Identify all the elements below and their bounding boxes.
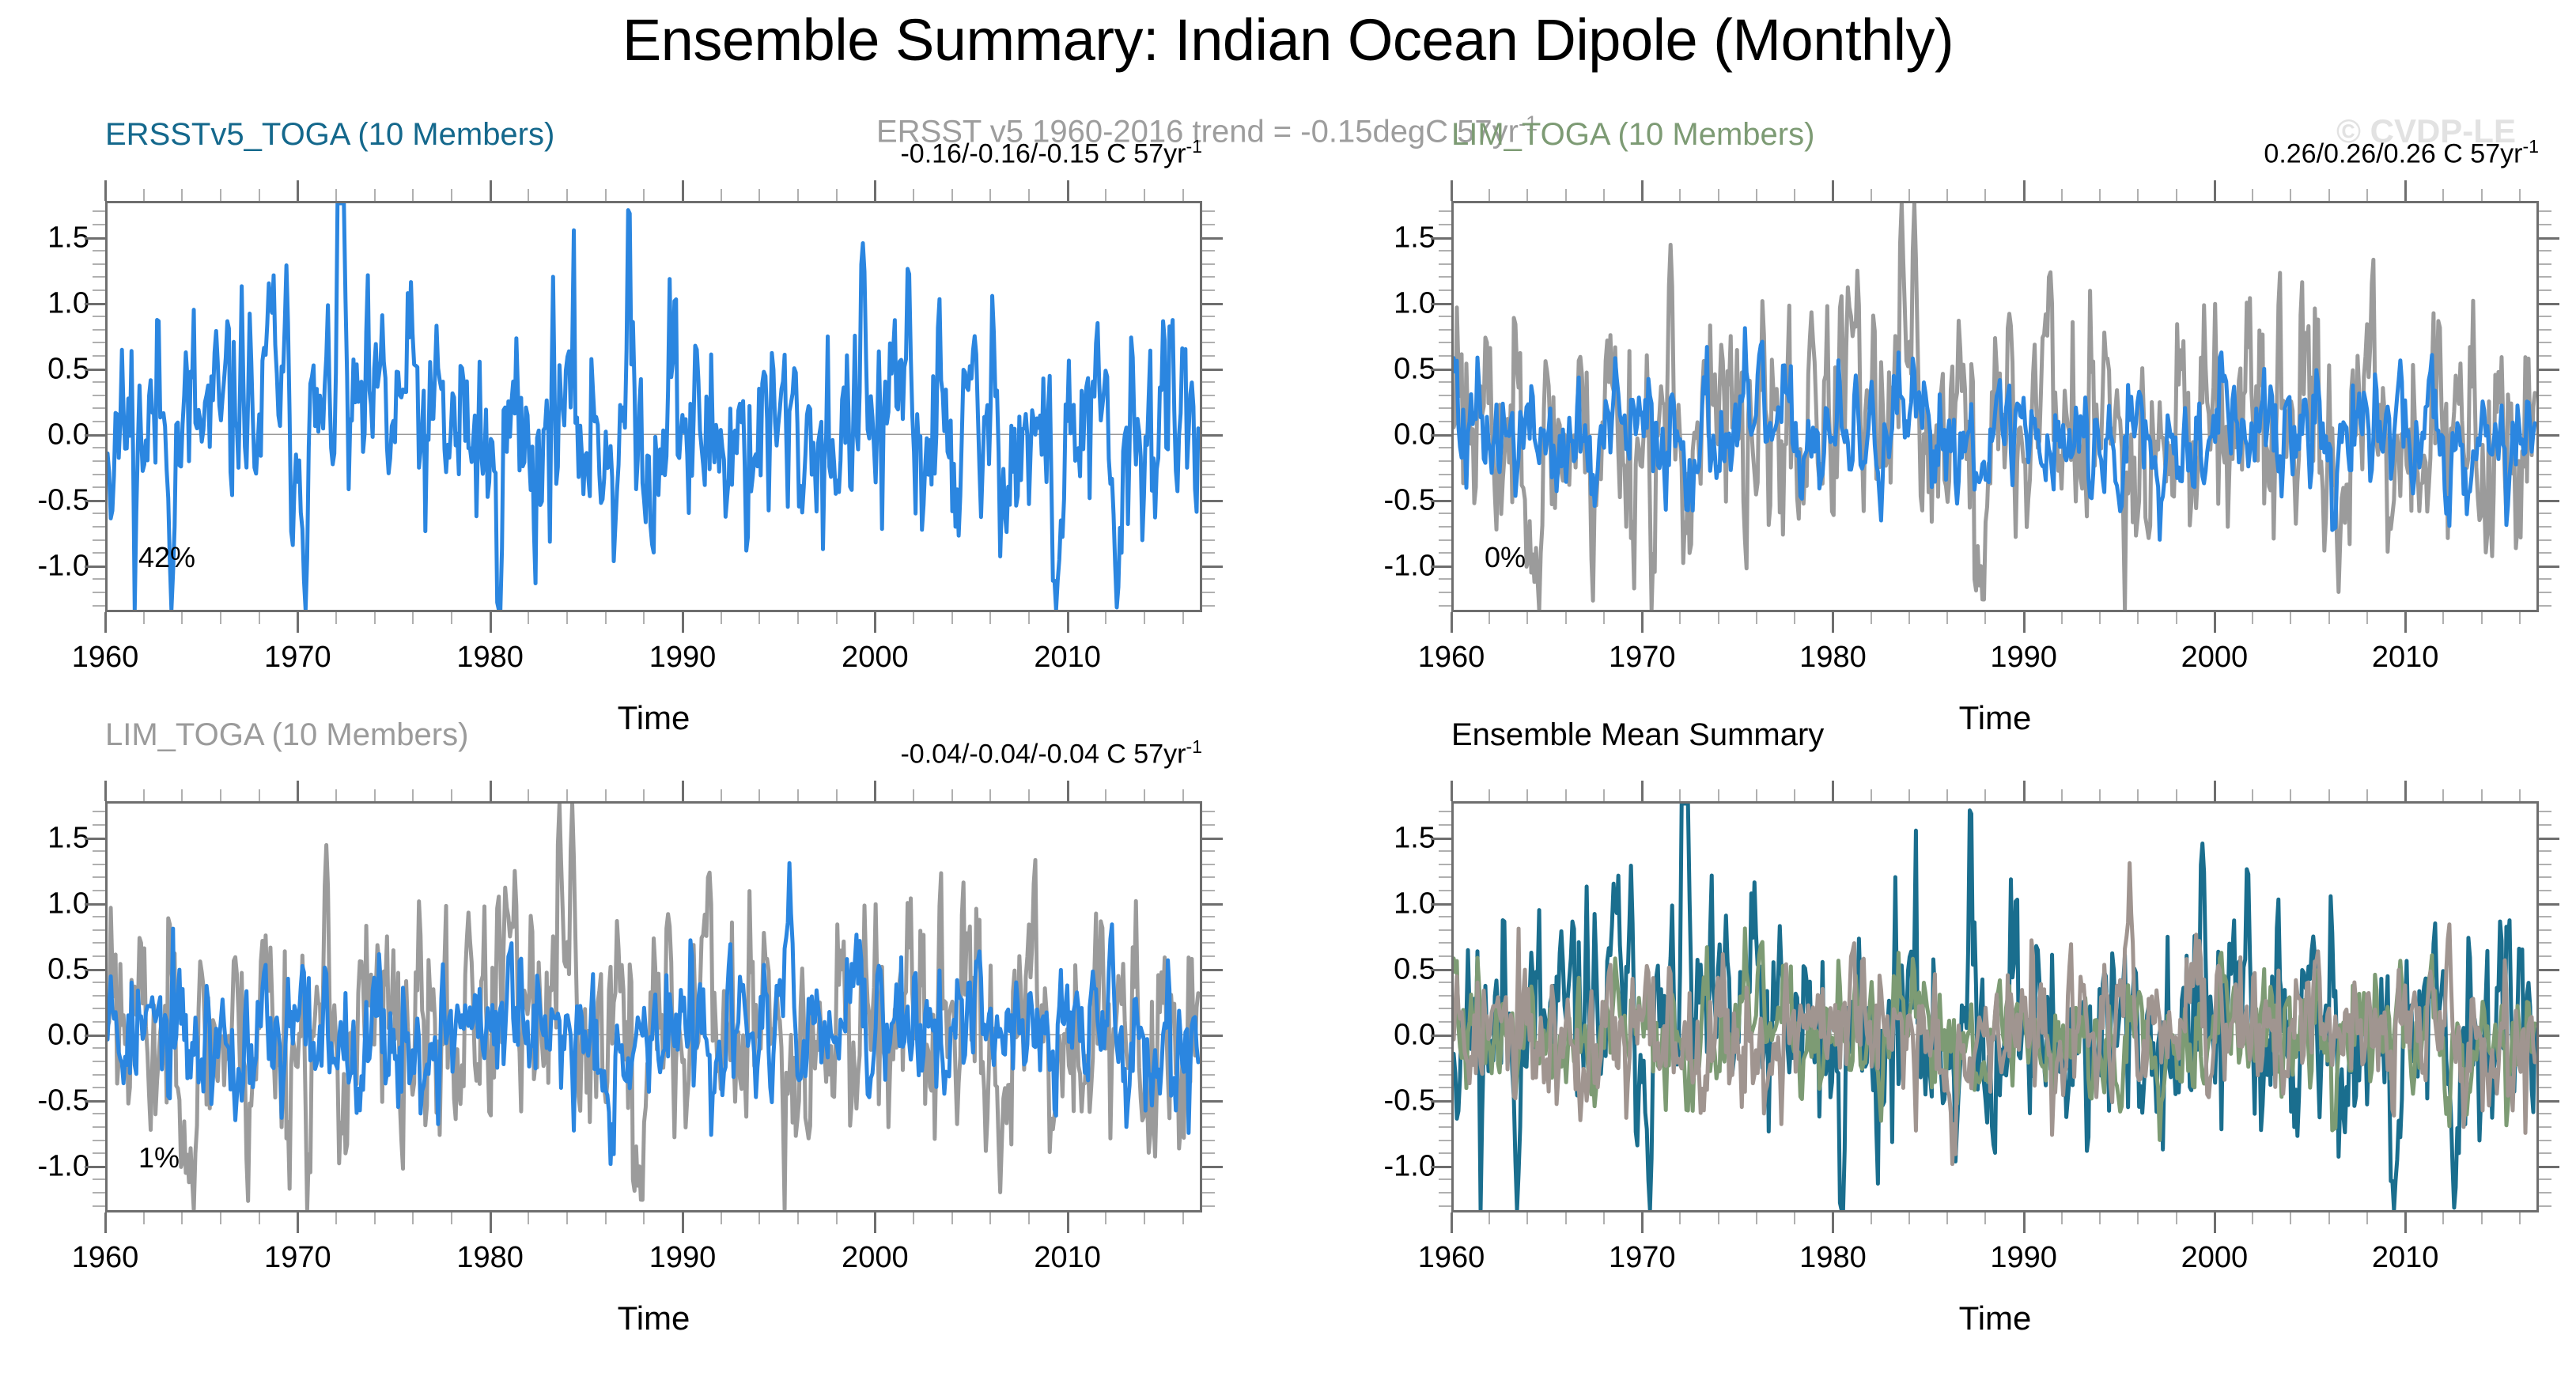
- x-minor-tick: [220, 189, 221, 201]
- y-minor-tick: [1202, 329, 1215, 331]
- y-minor-tick: [1439, 1061, 1451, 1062]
- y-minor-tick: [93, 1008, 105, 1009]
- x-minor-tick: [451, 789, 452, 801]
- x-minor-tick: [643, 612, 645, 624]
- y-minor-tick: [1202, 578, 1215, 580]
- plot-area-ersstv5-toga[interactable]: [105, 201, 1202, 612]
- x-minor-tick: [797, 1212, 799, 1224]
- x-minor-tick: [758, 1212, 760, 1224]
- x-minor-tick: [2481, 189, 2483, 201]
- x-minor-tick: [2252, 1212, 2253, 1224]
- x-minor-tick: [2176, 1212, 2177, 1224]
- y-minor-tick: [1439, 447, 1451, 448]
- x-minor-tick: [2442, 612, 2444, 624]
- y-minor-tick: [1439, 916, 1451, 917]
- x-minor-tick: [2442, 789, 2444, 801]
- x-major-tick: [2404, 612, 2407, 633]
- x-minor-tick: [913, 789, 914, 801]
- y-tick-label: -1.0: [1333, 1149, 1436, 1183]
- x-minor-tick: [528, 1212, 529, 1224]
- y-minor-tick: [1439, 929, 1451, 931]
- y-minor-tick: [1439, 263, 1451, 265]
- y-minor-tick: [93, 342, 105, 343]
- y-minor-tick: [1439, 407, 1451, 409]
- x-major-tick: [682, 781, 684, 801]
- x-minor-tick: [1144, 789, 1145, 801]
- x-major-tick: [874, 1212, 876, 1233]
- y-minor-tick: [93, 474, 105, 475]
- x-minor-tick: [758, 612, 760, 624]
- y-minor-tick: [93, 916, 105, 917]
- x-tick-label: 2000: [842, 641, 909, 675]
- y-major-tick: [85, 237, 105, 240]
- y-major-tick-right: [2539, 1035, 2559, 1037]
- x-minor-tick: [1182, 612, 1184, 624]
- x-minor-tick: [1871, 612, 1872, 624]
- y-tick-label: 1.0: [0, 887, 89, 921]
- y-minor-tick: [2539, 250, 2551, 252]
- y-major-tick: [1431, 434, 1451, 437]
- y-minor-tick: [2539, 982, 2551, 983]
- x-minor-tick: [643, 189, 645, 201]
- y-minor-tick: [2539, 876, 2551, 878]
- y-tick-label: 0.5: [0, 952, 89, 986]
- x-minor-tick: [528, 612, 529, 624]
- x-tick-label: 1960: [1418, 1241, 1485, 1275]
- x-minor-tick: [758, 789, 760, 801]
- y-minor-tick: [93, 864, 105, 865]
- y-minor-tick: [1439, 1152, 1451, 1154]
- y-minor-tick: [1439, 395, 1451, 396]
- x-minor-tick: [913, 612, 914, 624]
- x-major-tick: [1641, 612, 1644, 633]
- x-minor-tick: [259, 789, 260, 801]
- x-minor-tick: [1028, 789, 1030, 801]
- x-minor-tick: [2366, 612, 2368, 624]
- x-minor-tick: [1946, 189, 1948, 201]
- x-minor-tick: [2481, 789, 2483, 801]
- y-tick-label: 0.0: [0, 1018, 89, 1052]
- x-tick-label: 1960: [1418, 641, 1485, 675]
- y-minor-tick: [2539, 224, 2551, 225]
- y-minor-tick: [2539, 1126, 2551, 1128]
- plot-area-ensemble-mean-summary[interactable]: [1451, 801, 2539, 1212]
- y-minor-tick: [1439, 474, 1451, 475]
- y-minor-tick: [93, 995, 105, 997]
- x-tick-label: 2010: [1034, 641, 1101, 675]
- y-minor-tick: [2539, 460, 2551, 462]
- x-major-tick: [1832, 1212, 1834, 1233]
- y-minor-tick: [1202, 982, 1215, 983]
- y-major-tick: [1431, 303, 1451, 305]
- y-major-tick-right: [1202, 1100, 1223, 1103]
- y-minor-tick: [93, 1047, 105, 1049]
- y-minor-tick: [93, 1113, 105, 1114]
- x-minor-tick: [220, 789, 221, 801]
- x-minor-tick: [2099, 1212, 2101, 1224]
- y-minor-tick: [1439, 250, 1451, 252]
- x-tick-label: 1970: [1609, 641, 1676, 675]
- y-minor-tick: [1439, 1008, 1451, 1009]
- y-minor-tick: [93, 316, 105, 317]
- y-major-tick-right: [2539, 1100, 2559, 1103]
- plot-area-lim-toga-gray[interactable]: [105, 801, 1202, 1212]
- y-minor-tick: [93, 421, 105, 422]
- x-minor-tick: [2061, 189, 2063, 201]
- x-minor-tick: [451, 189, 452, 201]
- x-major-tick: [297, 1212, 299, 1233]
- y-minor-tick: [93, 289, 105, 291]
- x-minor-tick: [2099, 189, 2101, 201]
- y-major-tick-right: [2539, 838, 2559, 840]
- x-minor-tick: [335, 612, 337, 624]
- y-minor-tick: [1202, 210, 1215, 212]
- y-major-tick: [85, 1166, 105, 1168]
- x-minor-tick: [2290, 612, 2291, 624]
- x-minor-tick: [836, 1212, 838, 1224]
- y-minor-tick: [1439, 1021, 1451, 1023]
- x-minor-tick: [1182, 1212, 1184, 1224]
- x-minor-tick: [1946, 1212, 1948, 1224]
- x-minor-tick: [913, 189, 914, 201]
- y-minor-tick: [1439, 1074, 1451, 1076]
- x-major-tick: [1067, 612, 1069, 633]
- x-minor-tick: [836, 612, 838, 624]
- x-minor-tick: [566, 1212, 568, 1224]
- x-minor-tick: [643, 789, 645, 801]
- y-minor-tick: [2539, 864, 2551, 865]
- y-minor-tick: [2539, 263, 2551, 265]
- y-minor-tick: [93, 460, 105, 462]
- x-minor-tick: [1794, 612, 1795, 624]
- y-minor-tick: [1202, 850, 1215, 852]
- y-minor-tick: [1202, 526, 1215, 528]
- y-minor-tick: [1439, 605, 1451, 607]
- x-minor-tick: [989, 1212, 991, 1224]
- y-minor-tick: [1202, 824, 1215, 826]
- x-major-tick: [1641, 180, 1644, 201]
- x-axis-title: Time: [1959, 1299, 2032, 1337]
- y-major-tick: [85, 903, 105, 906]
- x-minor-tick: [528, 789, 529, 801]
- x-minor-tick: [335, 789, 337, 801]
- x-minor-tick: [913, 1212, 914, 1224]
- y-minor-tick: [2539, 407, 2551, 409]
- x-major-tick: [1832, 781, 1834, 801]
- x-minor-tick: [605, 189, 607, 201]
- x-tick-label: 2010: [2372, 641, 2439, 675]
- x-major-tick: [1641, 781, 1644, 801]
- y-minor-tick: [2539, 578, 2551, 580]
- percent-label-lim-toga-gray: 1%: [138, 1141, 180, 1175]
- y-minor-tick: [1439, 316, 1451, 317]
- x-tick-label: 1970: [1609, 1241, 1676, 1275]
- x-minor-tick: [1105, 789, 1106, 801]
- x-minor-tick: [181, 612, 183, 624]
- y-minor-tick: [1202, 250, 1215, 252]
- x-minor-tick: [721, 189, 722, 201]
- x-major-tick: [2214, 781, 2216, 801]
- x-minor-tick: [2519, 1212, 2521, 1224]
- x-minor-tick: [2137, 612, 2139, 624]
- x-minor-tick: [1565, 1212, 1567, 1224]
- x-minor-tick: [951, 612, 953, 624]
- y-minor-tick: [1439, 982, 1451, 983]
- x-minor-tick: [1984, 789, 1986, 801]
- x-major-tick: [2023, 180, 2026, 201]
- x-minor-tick: [1718, 189, 1719, 201]
- x-minor-tick: [1984, 612, 1986, 624]
- y-major-tick-right: [2539, 1166, 2559, 1168]
- y-minor-tick: [93, 395, 105, 396]
- y-minor-tick: [93, 811, 105, 812]
- y-minor-tick: [2539, 850, 2551, 852]
- y-minor-tick: [1439, 329, 1451, 331]
- x-minor-tick: [220, 612, 221, 624]
- y-minor-tick: [2539, 1008, 2551, 1009]
- y-minor-tick: [1202, 605, 1215, 607]
- y-major-tick: [85, 434, 105, 437]
- x-minor-tick: [220, 1212, 221, 1224]
- y-minor-tick: [1202, 342, 1215, 343]
- y-minor-tick: [1202, 224, 1215, 225]
- x-minor-tick: [2519, 189, 2521, 201]
- panel-trend-exponent: -1: [2522, 136, 2539, 157]
- panel-trend-lim-toga-green: 0.26/0.26/0.26 C 57yr-1: [2264, 136, 2539, 169]
- y-minor-tick: [1439, 995, 1451, 997]
- x-minor-tick: [2328, 789, 2330, 801]
- x-minor-tick: [2061, 612, 2063, 624]
- y-minor-tick: [1202, 1205, 1215, 1207]
- x-minor-tick: [1144, 189, 1145, 201]
- x-major-tick: [104, 781, 107, 801]
- y-minor-tick: [1439, 876, 1451, 878]
- x-minor-tick: [836, 189, 838, 201]
- y-minor-tick: [93, 578, 105, 580]
- x-minor-tick: [181, 189, 183, 201]
- y-minor-tick: [2539, 513, 2551, 514]
- y-tick-label: -1.0: [0, 549, 89, 583]
- y-minor-tick: [1439, 578, 1451, 580]
- y-minor-tick: [1439, 539, 1451, 541]
- x-minor-tick: [1794, 189, 1795, 201]
- y-minor-tick: [1439, 1192, 1451, 1194]
- y-minor-tick: [93, 486, 105, 488]
- x-minor-tick: [1565, 189, 1567, 201]
- y-minor-tick: [1202, 355, 1215, 357]
- x-tick-label: 2000: [2181, 1241, 2249, 1275]
- y-major-tick-right: [2539, 303, 2559, 305]
- x-major-tick: [682, 180, 684, 201]
- x-major-tick: [874, 612, 876, 633]
- y-major-tick: [1431, 1100, 1451, 1103]
- y-minor-tick: [1202, 1087, 1215, 1088]
- y-minor-tick: [93, 876, 105, 878]
- y-major-tick-right: [1202, 903, 1223, 906]
- x-minor-tick: [1756, 189, 1757, 201]
- x-tick-label: 1960: [72, 1241, 139, 1275]
- y-minor-tick: [2539, 289, 2551, 291]
- percent-label-lim-toga-green: 0%: [1485, 541, 1526, 574]
- y-major-tick: [1431, 566, 1451, 568]
- x-major-tick: [104, 1212, 107, 1233]
- x-minor-tick: [721, 1212, 722, 1224]
- x-minor-tick: [1718, 612, 1719, 624]
- y-minor-tick: [1439, 592, 1451, 593]
- x-major-tick: [682, 1212, 684, 1233]
- y-minor-tick: [2539, 539, 2551, 541]
- y-minor-tick: [2539, 605, 2551, 607]
- y-minor-tick: [1202, 1008, 1215, 1009]
- y-major-tick-right: [1202, 500, 1223, 502]
- x-minor-tick: [1488, 189, 1490, 201]
- y-major-tick-right: [2539, 369, 2559, 371]
- x-major-tick: [2023, 1212, 2026, 1233]
- y-tick-label: 1.5: [0, 821, 89, 855]
- y-minor-tick: [2539, 355, 2551, 357]
- x-minor-tick: [1871, 1212, 1872, 1224]
- y-minor-tick: [1439, 526, 1451, 528]
- x-minor-tick: [181, 789, 183, 801]
- y-minor-tick: [1439, 824, 1451, 826]
- panel-trend-exponent: -1: [1186, 736, 1202, 757]
- y-minor-tick: [2539, 210, 2551, 212]
- y-minor-tick: [93, 1205, 105, 1207]
- x-tick-label: 1970: [264, 641, 331, 675]
- y-major-tick-right: [2539, 237, 2559, 240]
- y-minor-tick: [93, 1126, 105, 1128]
- x-minor-tick: [374, 189, 376, 201]
- x-major-tick: [1451, 180, 1453, 201]
- x-minor-tick: [2252, 612, 2253, 624]
- x-minor-tick: [1908, 789, 1910, 801]
- x-minor-tick: [451, 612, 452, 624]
- x-minor-tick: [1028, 1212, 1030, 1224]
- y-minor-tick: [93, 605, 105, 607]
- y-minor-tick: [2539, 421, 2551, 422]
- x-minor-tick: [1603, 789, 1605, 801]
- x-minor-tick: [2137, 1212, 2139, 1224]
- x-minor-tick: [758, 189, 760, 201]
- y-minor-tick: [2539, 1061, 2551, 1062]
- y-minor-tick: [1439, 1140, 1451, 1141]
- y-minor-tick: [2539, 381, 2551, 383]
- x-minor-tick: [1182, 789, 1184, 801]
- x-minor-tick: [605, 789, 607, 801]
- y-minor-tick: [1439, 421, 1451, 422]
- y-minor-tick: [1439, 486, 1451, 488]
- y-major-tick: [1431, 500, 1451, 502]
- x-major-tick: [2214, 1212, 2216, 1233]
- y-minor-tick: [1202, 916, 1215, 917]
- y-minor-tick: [1202, 381, 1215, 383]
- x-minor-tick: [1526, 1212, 1528, 1224]
- y-minor-tick: [93, 1061, 105, 1062]
- y-minor-tick: [1202, 929, 1215, 931]
- y-major-tick: [85, 303, 105, 305]
- y-major-tick: [1431, 237, 1451, 240]
- x-minor-tick: [1871, 789, 1872, 801]
- x-minor-tick: [1603, 189, 1605, 201]
- x-minor-tick: [2176, 189, 2177, 201]
- x-minor-tick: [2099, 612, 2101, 624]
- x-minor-tick: [1526, 189, 1528, 201]
- y-minor-tick: [1202, 1178, 1215, 1180]
- y-minor-tick: [2539, 1113, 2551, 1114]
- x-major-tick: [874, 180, 876, 201]
- x-minor-tick: [1756, 789, 1757, 801]
- x-tick-label: 1980: [456, 641, 524, 675]
- panel-title-lim-toga-green: LIM_TOGA (10 Members): [1451, 117, 1814, 153]
- y-minor-tick: [1439, 850, 1451, 852]
- y-minor-tick: [93, 982, 105, 983]
- x-minor-tick: [2481, 612, 2483, 624]
- y-tick-label: 1.0: [0, 286, 89, 320]
- x-minor-tick: [2366, 189, 2368, 201]
- x-minor-tick: [1679, 1212, 1681, 1224]
- x-minor-tick: [2252, 789, 2253, 801]
- y-minor-tick: [2539, 474, 2551, 475]
- panel-trend-text: 0.26/0.26/0.26 C 57yr: [2264, 138, 2522, 168]
- y-major-tick: [85, 969, 105, 971]
- x-minor-tick: [1946, 612, 1948, 624]
- x-minor-tick: [2061, 1212, 2063, 1224]
- y-major-tick-right: [2539, 566, 2559, 568]
- x-minor-tick: [797, 789, 799, 801]
- plot-area-lim-toga-green[interactable]: [1451, 201, 2539, 612]
- y-minor-tick: [93, 210, 105, 212]
- y-tick-label: -0.5: [0, 483, 89, 517]
- x-minor-tick: [2290, 789, 2291, 801]
- panel-trend-ersstv5-toga: -0.16/-0.16/-0.15 C 57yr-1: [900, 136, 1202, 169]
- x-minor-tick: [2290, 189, 2291, 201]
- x-minor-tick: [1603, 1212, 1605, 1224]
- y-major-tick: [1431, 838, 1451, 840]
- y-minor-tick: [93, 263, 105, 265]
- y-tick-label: 0.0: [1333, 418, 1436, 452]
- y-minor-tick: [93, 1178, 105, 1180]
- x-minor-tick: [951, 1212, 953, 1224]
- y-major-tick-right: [1202, 838, 1223, 840]
- y-minor-tick: [1202, 864, 1215, 865]
- y-minor-tick: [1202, 316, 1215, 317]
- y-minor-tick: [93, 355, 105, 357]
- y-major-tick-right: [1202, 1035, 1223, 1037]
- y-minor-tick: [1202, 407, 1215, 409]
- y-minor-tick: [1439, 1126, 1451, 1128]
- y-minor-tick: [1439, 955, 1451, 957]
- y-minor-tick: [1439, 1087, 1451, 1088]
- y-minor-tick: [1202, 1074, 1215, 1076]
- x-minor-tick: [2176, 789, 2177, 801]
- x-minor-tick: [1105, 612, 1106, 624]
- panel-trend-exponent: -1: [1186, 136, 1202, 157]
- x-minor-tick: [1908, 612, 1910, 624]
- x-tick-label: 1990: [1990, 641, 2057, 675]
- x-minor-tick: [797, 612, 799, 624]
- y-major-tick-right: [2539, 969, 2559, 971]
- x-minor-tick: [951, 789, 953, 801]
- x-tick-label: 2010: [1034, 1241, 1101, 1275]
- x-minor-tick: [989, 612, 991, 624]
- y-minor-tick: [93, 1021, 105, 1023]
- y-minor-tick: [93, 276, 105, 278]
- series-line-0: [108, 203, 1198, 610]
- x-minor-tick: [797, 189, 799, 201]
- y-minor-tick: [2539, 1205, 2551, 1207]
- panel-trend-lim-toga-gray: -0.04/-0.04/-0.04 C 57yr-1: [900, 736, 1202, 770]
- y-minor-tick: [2539, 486, 2551, 488]
